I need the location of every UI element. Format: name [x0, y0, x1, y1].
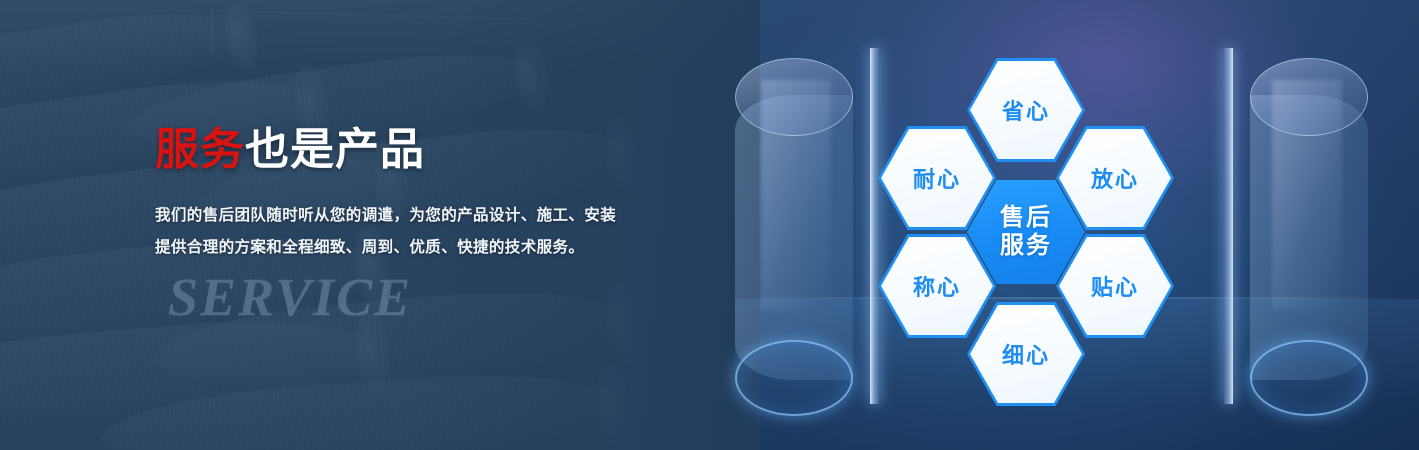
hexagon-xixin[interactable]: 细心 — [967, 302, 1085, 406]
pipe — [98, 364, 622, 450]
sky-strip — [0, 0, 760, 70]
glass-cylinder-left — [735, 40, 885, 410]
subtitle: 我们的售后团队随时听从您的调遣，为您的产品设计、施工、安装 提供合理的方案和全程… — [155, 200, 715, 264]
headline-accent: 服务 — [155, 125, 245, 174]
cylinder-base-ellipse — [735, 340, 853, 416]
pipe — [0, 0, 253, 137]
subtitle-line-2: 提供合理的方案和全程细致、周到、优质、快捷的技术服务。 — [155, 232, 715, 264]
cylinder-base-ellipse — [1250, 340, 1368, 416]
page-title: 服务也是产品 — [155, 128, 715, 172]
cylinder-top-ellipse — [735, 58, 853, 136]
watermark-service: SERVICE — [168, 266, 412, 328]
power-wire — [212, 10, 632, 23]
cylinder-edge — [1224, 48, 1233, 404]
hexagon-fill — [967, 180, 1085, 284]
copy-block: 服务也是产品 我们的售后团队随时听从您的调遣，为您的产品设计、施工、安装 提供合… — [155, 128, 715, 264]
hexagon-center-after-sales-service[interactable]: 售后 服务 — [967, 180, 1085, 284]
subtitle-line-1: 我们的售后团队随时听从您的调遣，为您的产品设计、施工、安装 — [155, 200, 715, 232]
cylinder-top-ellipse — [1250, 58, 1368, 136]
utility-pole — [211, 8, 213, 54]
service-banner: 服务也是产品 我们的售后团队随时听从您的调遣，为您的产品设计、施工、安装 提供合… — [0, 0, 1419, 450]
hexagon-cluster: 耐心 省心 放心 称心 贴心 细心 — [878, 48, 1218, 408]
headline-rest: 也是产品 — [245, 125, 425, 174]
glass-cylinder-right — [1218, 40, 1368, 410]
